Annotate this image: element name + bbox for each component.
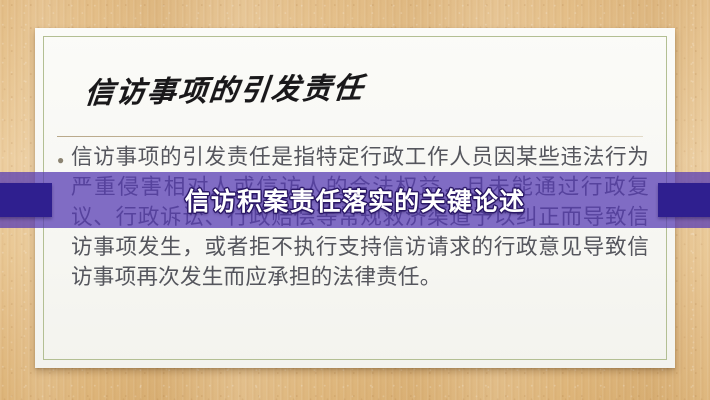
overlay-banner: 信访积案责任落实的关键论述	[0, 172, 710, 228]
body-separator-rule	[57, 136, 643, 137]
slide-stage: 信访事项的引发责任 ● 信访事项的引发责任是指特定行政工作人员因某些违法行为严重…	[0, 0, 710, 400]
banner-title-text: 信访积案责任落实的关键论述	[0, 172, 710, 228]
slide-title: 信访事项的引发责任	[83, 65, 367, 112]
bullet-marker: ●	[57, 143, 71, 166]
